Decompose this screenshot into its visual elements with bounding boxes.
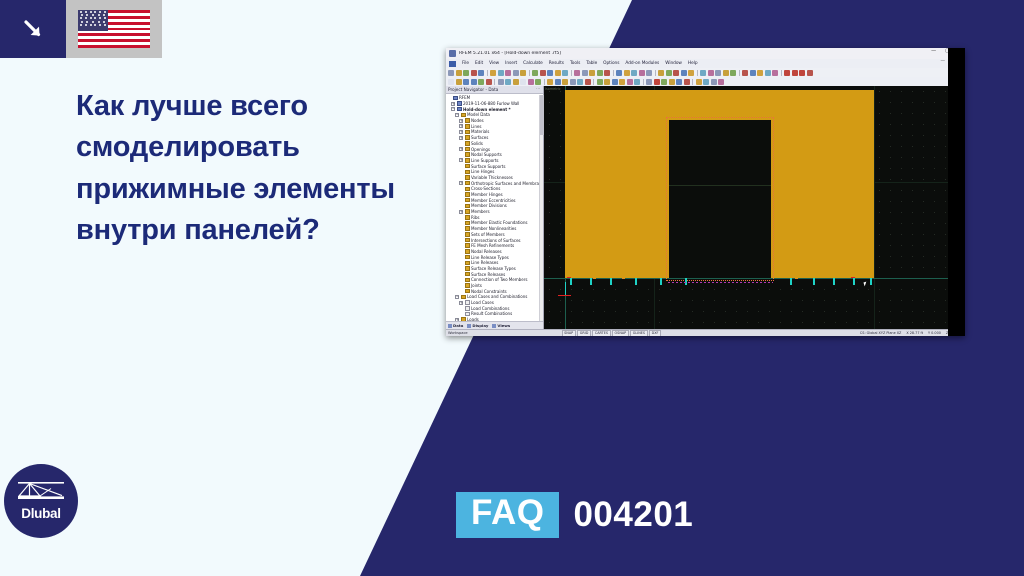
menu-item-help[interactable]: Help [688, 61, 698, 66]
toolbar-button-icon[interactable] [627, 79, 633, 85]
tree-node-icon [465, 170, 470, 175]
menu-item-addon[interactable]: Add-on Modules [625, 61, 659, 66]
tree-item-label: Nodal Constraints [471, 289, 507, 294]
tab-display[interactable]: Display [467, 323, 488, 328]
tree-spacer [459, 312, 463, 316]
us-flag-icon [66, 0, 162, 58]
toolbar-button-icon[interactable] [604, 70, 610, 76]
toolbar-separator [697, 70, 698, 76]
toolbar-button-icon[interactable] [634, 79, 640, 85]
menu-item-insert[interactable]: Insert [505, 61, 517, 66]
navigator-scrollbar[interactable] [539, 95, 543, 321]
toolbar-separator [739, 70, 740, 76]
navigator-menu-icon[interactable]: ⋯ [536, 87, 541, 91]
toolbar-button-icon[interactable] [639, 70, 645, 76]
tree-item-label: Joints [471, 283, 482, 288]
toolbar-secondary[interactable] [446, 77, 965, 86]
expand-icon[interactable]: + [459, 124, 463, 128]
wall-opening[interactable] [669, 120, 771, 278]
menu-logo-icon [449, 61, 456, 67]
toolbar-button-icon[interactable] [574, 70, 580, 76]
tree-item-label: Member Nonlinearities [471, 226, 516, 231]
rfem-app-icon [449, 50, 456, 57]
tree-item-label: Connection of Two Members [471, 277, 527, 282]
tree-item-label: Surface Releases [471, 272, 505, 277]
support-symbol[interactable] [813, 278, 815, 285]
menu-item-edit[interactable]: Edit [475, 61, 483, 66]
tree-spacer [459, 261, 463, 265]
statusbar-toggle[interactable]: SNAP [562, 330, 576, 337]
toolbar-button-icon[interactable] [498, 70, 504, 76]
tree-node-icon [465, 278, 470, 283]
toolbar-button-icon[interactable] [520, 70, 526, 76]
toolbar-button-icon[interactable] [532, 70, 538, 76]
toolbar-button-icon[interactable] [498, 79, 504, 85]
toolbar-button-icon[interactable] [784, 70, 790, 76]
toolbar-button-icon[interactable] [616, 70, 622, 76]
tree-item-label: 2019-11-06-880 Furlow Wall [463, 101, 519, 106]
display-icon [467, 324, 471, 328]
tree-node-icon [465, 198, 470, 203]
menu-item-window[interactable]: Window [665, 61, 682, 66]
support-symbol[interactable] [610, 278, 612, 285]
support-symbol[interactable] [635, 278, 637, 285]
grid-line-vertical [874, 86, 875, 329]
toolbar-button-icon[interactable] [505, 79, 511, 85]
menu-item-table[interactable]: Table [586, 61, 597, 66]
tree-spacer [459, 164, 463, 168]
tree-item-label: Member Eccentricities [471, 198, 516, 203]
toolbar-button-icon[interactable] [463, 70, 469, 76]
tree-node-icon [461, 113, 466, 118]
toolbar-button-icon[interactable] [535, 79, 541, 85]
toolbar-button-icon[interactable] [723, 70, 729, 76]
statusbar-toggle[interactable]: CARTES [592, 330, 610, 337]
tree-spacer [459, 175, 463, 179]
support-symbol[interactable] [790, 278, 792, 285]
tree-item-label: Hold-down element * [463, 107, 511, 112]
tree-node-icon [465, 232, 470, 237]
statusbar-field: CS: Global XYZ Plane XZ [860, 331, 901, 335]
statusbar-toggle[interactable]: DXF [649, 330, 661, 337]
hold-down-element-line[interactable] [668, 282, 773, 283]
language-badge [0, 0, 162, 58]
toolbar-button-icon[interactable] [520, 79, 526, 85]
toolbar-separator [655, 70, 656, 76]
expand-icon[interactable]: + [459, 147, 463, 151]
toolbar-button-icon[interactable] [582, 70, 588, 76]
tree-node-icon [457, 107, 462, 112]
minimize-icon[interactable]: — [931, 49, 936, 54]
toolbar-button-icon[interactable] [772, 70, 778, 76]
tree-item-label: Load Combinations [471, 306, 509, 311]
expand-icon[interactable]: + [459, 181, 463, 185]
statusbar-field: Y 0.000 [928, 331, 941, 335]
views-icon [492, 324, 496, 328]
tree-item-label: Members [471, 209, 490, 214]
tree-item-label: Sets of Members [471, 232, 505, 237]
tree-node-icon [465, 187, 470, 192]
tree-node-icon [465, 124, 470, 129]
tree-node-icon [461, 295, 466, 300]
tree-node-icon [465, 192, 470, 197]
z-axis-icon [565, 282, 566, 295]
expand-icon[interactable]: + [459, 210, 463, 214]
tree-spacer [459, 266, 463, 270]
tree-spacer [459, 193, 463, 197]
tab-data[interactable]: Data [448, 323, 463, 328]
toolbar-button-icon[interactable] [589, 70, 595, 76]
tree-node-icon [465, 300, 470, 305]
toolbar-button-icon[interactable] [478, 79, 484, 85]
support-marker[interactable] [593, 278, 596, 279]
opening-split-line [669, 185, 771, 186]
toolbar-button-icon[interactable] [673, 70, 679, 76]
toolbar-button-icon[interactable] [765, 70, 771, 76]
toolbar-button-icon[interactable] [463, 79, 469, 85]
toolbar-separator [494, 79, 495, 85]
tree-node-icon [465, 204, 470, 209]
tree-spacer [459, 244, 463, 248]
toolbar-button-icon[interactable] [684, 79, 690, 85]
data-icon [448, 324, 452, 328]
tree-node-icon [465, 175, 470, 180]
toolbar-button-icon[interactable] [666, 70, 672, 76]
mdi-minimize-icon[interactable]: — [940, 60, 945, 65]
tree-item-label: Surfaces [471, 135, 488, 140]
toolbar-button-icon[interactable] [555, 70, 561, 76]
toolbar-separator [781, 70, 782, 76]
tree-item-label: Orthotropic Surfaces and Membranes [471, 181, 543, 186]
tree-spacer [447, 96, 451, 100]
app-titlebar: RFEM 5.21.01 x64 - [Hold-down element .r… [446, 48, 965, 59]
tree-node-icon [465, 141, 470, 146]
expand-icon[interactable]: + [451, 102, 455, 106]
toolbar-button-icon[interactable] [676, 79, 682, 85]
tree-node-icon [465, 209, 470, 214]
toolbar-button-icon[interactable] [715, 70, 721, 76]
tree-spacer [459, 227, 463, 231]
statusbar-toggle[interactable]: GRID [577, 330, 591, 337]
toolbar-separator [571, 70, 572, 76]
nodal-support-marker[interactable] [851, 277, 855, 278]
toolbar-button-icon[interactable] [570, 79, 576, 85]
toolbar-button-icon[interactable] [703, 79, 709, 85]
tree-item-label: Model Data [467, 112, 490, 117]
tree-item-label: Variable Thicknesses [471, 175, 513, 180]
toolbar-button-icon[interactable] [708, 70, 714, 76]
tree-node-icon [465, 226, 470, 231]
toolbar-separator [613, 70, 614, 76]
tree-item-label: Nodal Releases [471, 249, 502, 254]
tree-item-label: Intersections of Surfaces [471, 238, 521, 243]
tree-node-icon [465, 135, 470, 140]
toolbar-button-icon[interactable] [654, 79, 660, 85]
faq-footer: FAQ 004201 [456, 492, 693, 538]
statusbar-left-text: Workspace [448, 331, 468, 335]
toolbar-button-icon[interactable] [700, 70, 706, 76]
toolbar-button-icon[interactable] [646, 79, 652, 85]
toolbar-button-icon[interactable] [540, 70, 546, 76]
tree-node-icon [465, 266, 470, 271]
toolbar-button-icon[interactable] [742, 70, 748, 76]
tree-item-label: Line Releases [471, 260, 498, 265]
tree-spacer [459, 141, 463, 145]
toolbar-button-icon[interactable] [597, 79, 603, 85]
toolbar-button-icon[interactable] [490, 70, 496, 76]
statusbar-toggles[interactable]: SNAPGRIDCARTESOSNAPGLINESDXF [562, 330, 661, 337]
tree-node-icon [465, 147, 470, 152]
toolbar-button-icon[interactable] [612, 79, 618, 85]
toolbar-separator [593, 79, 594, 85]
statusbar-field: X 28.77 ft [906, 331, 923, 335]
tree-node-icon [465, 221, 470, 226]
toolbar-button-icon[interactable] [547, 79, 553, 85]
expand-icon[interactable]: + [459, 136, 463, 140]
tree-node-icon [465, 158, 470, 163]
tree-node-icon [465, 283, 470, 288]
menu-item-view[interactable]: View [489, 61, 499, 66]
screenshot-right-margin [948, 48, 965, 336]
toolbar-button-icon[interactable] [730, 70, 736, 76]
tree-spacer [459, 170, 463, 174]
support-symbol[interactable] [870, 278, 872, 285]
faq-badge: FAQ [456, 492, 559, 538]
toolbar-button-icon[interactable] [711, 79, 717, 85]
tree-item-label: Member Hinges [471, 192, 503, 197]
toolbar-button-icon[interactable] [471, 70, 477, 76]
toolbar-button-icon[interactable] [646, 70, 652, 76]
toolbar-separator [643, 79, 644, 85]
coordinate-origin-axes [556, 282, 576, 302]
toolbar-button-icon[interactable] [471, 79, 477, 85]
tree-node-icon [465, 306, 470, 311]
tree-node-icon [465, 289, 470, 294]
support-symbol[interactable] [660, 278, 662, 285]
toolbar-button-icon[interactable] [478, 70, 484, 76]
tree-node-icon [465, 152, 470, 157]
toolbar-button-icon[interactable] [456, 70, 462, 76]
tree-item-label: Line Hinges [471, 169, 494, 174]
support-symbol[interactable] [853, 278, 855, 285]
toolbar-button-icon[interactable] [681, 70, 687, 76]
tree-spacer [459, 278, 463, 282]
rfem-application-screenshot: RFEM 5.21.01 x64 - [Hold-down element .r… [446, 48, 965, 336]
tree-spacer [459, 232, 463, 236]
tree-spacer [459, 198, 463, 202]
support-symbol[interactable] [590, 278, 592, 285]
expand-icon[interactable]: + [459, 301, 463, 305]
tree-spacer [459, 204, 463, 208]
support-marker[interactable] [795, 278, 798, 279]
tree-item-label: Result Combinations [471, 311, 512, 316]
tree-spacer [459, 255, 463, 259]
toolbar-button-icon[interactable] [718, 79, 724, 85]
dlubal-logo: Dlubal [4, 464, 78, 538]
app-chrome: RFEM 5.21.01 x64 - [Hold-down element .r… [446, 48, 965, 86]
toolbar-primary[interactable] [446, 68, 965, 77]
toolbar-button-icon[interactable] [513, 70, 519, 76]
menu-item-options[interactable]: Options [603, 61, 619, 66]
app-menubar[interactable]: File Edit View Insert Calculate Results … [446, 59, 965, 68]
nodal-support-marker[interactable] [567, 277, 571, 278]
toolbar-button-icon[interactable] [456, 79, 462, 85]
toolbar-button-icon[interactable] [750, 70, 756, 76]
tree-item-label: Ribs [471, 215, 480, 220]
tree-item-label: RFEM [459, 95, 470, 100]
tree-spacer [459, 215, 463, 219]
toolbar-button-icon[interactable] [448, 79, 454, 85]
tree-spacer [459, 284, 463, 288]
tree-item-label: Member Divisions [471, 203, 507, 208]
toolbar-button-icon[interactable] [688, 70, 694, 76]
toolbar-button-icon[interactable] [696, 79, 702, 85]
tree-node-icon [465, 215, 470, 220]
tree-node-icon [465, 312, 470, 317]
toolbar-button-icon[interactable] [585, 79, 591, 85]
toolbar-button-icon[interactable] [577, 79, 583, 85]
arrow-down-right-icon [0, 0, 66, 58]
toolbar-button-icon[interactable] [547, 70, 553, 76]
toolbar-button-icon[interactable] [807, 70, 813, 76]
toolbar-button-icon[interactable] [555, 79, 561, 85]
toolbar-button-icon[interactable] [619, 79, 625, 85]
tree-spacer [459, 238, 463, 242]
dlubal-truss-icon [18, 482, 64, 504]
tree-spacer [459, 249, 463, 253]
toolbar-button-icon[interactable] [669, 79, 675, 85]
tree-item-label: FE Mesh Refinements [471, 243, 514, 248]
tree-item-label: Load Cases and Combinations [467, 294, 527, 299]
statusbar-toggle[interactable]: OSNAP [612, 330, 629, 337]
tree-item-label: Openings [471, 147, 490, 152]
tree-node-icon [465, 118, 470, 123]
view-label: Isometric [545, 87, 561, 91]
menu-item-tools[interactable]: Tools [570, 61, 580, 66]
tree-spacer [459, 153, 463, 157]
tree-node-icon [465, 130, 470, 135]
x-axis-icon [558, 295, 571, 296]
tree-item-label: Lines [471, 124, 481, 129]
tree-node-icon [465, 255, 470, 260]
tree-node-icon [465, 164, 470, 169]
tree-item-label: Surface Release Types [471, 266, 516, 271]
model-viewport[interactable]: Isometric [544, 86, 965, 329]
tree-spacer [459, 306, 463, 310]
toolbar-separator [544, 79, 545, 85]
tree-spacer [459, 272, 463, 276]
toolbar-separator [529, 70, 530, 76]
tree-node-icon [465, 272, 470, 277]
tree-item[interactable]: +Orthotropic Surfaces and Membranes [447, 180, 543, 186]
tree-item-label: Surface Supports [471, 164, 505, 169]
toolbar-button-icon[interactable] [757, 70, 763, 76]
collapse-icon[interactable]: − [451, 107, 455, 111]
toolbar-button-icon[interactable] [486, 79, 492, 85]
toolbar-button-icon[interactable] [528, 79, 534, 85]
tree-item-label: Solids [471, 141, 483, 146]
app-statusbar: Workspace SNAPGRIDCARTESOSNAPGLINESDXF C… [446, 329, 965, 336]
toolbar-button-icon[interactable] [799, 70, 805, 76]
toolbar-button-icon[interactable] [513, 79, 519, 85]
tree-item-label: Cross-Sections [471, 186, 500, 191]
page-title: Как лучше всего смоделировать прижимные … [76, 86, 406, 252]
tree-spacer [459, 289, 463, 293]
menu-item-results[interactable]: Results [549, 61, 564, 66]
toolbar-button-icon[interactable] [604, 79, 610, 85]
collapse-icon[interactable]: − [455, 295, 459, 299]
support-marker[interactable] [622, 278, 625, 279]
project-navigator-panel[interactable]: Project Navigator - Data ⋯ RFEM+2019-11-… [446, 86, 544, 329]
navigator-tabs[interactable]: Data Display Views [446, 321, 543, 329]
tree-spacer [459, 187, 463, 191]
tree-node-icon [465, 261, 470, 266]
toolbar-button-icon[interactable] [661, 79, 667, 85]
toolbar-button-icon[interactable] [597, 70, 603, 76]
tree-node-icon [465, 249, 470, 254]
slide-canvas: Как лучше всего смоделировать прижимные … [0, 0, 1024, 576]
tree-item-label: Line Supports [471, 158, 499, 163]
tab-views[interactable]: Views [492, 323, 510, 328]
collapse-icon[interactable]: − [455, 113, 459, 117]
expand-icon[interactable]: + [459, 130, 463, 134]
toolbar-button-icon[interactable] [562, 70, 568, 76]
toolbar-button-icon[interactable] [624, 70, 630, 76]
toolbar-button-icon[interactable] [792, 70, 798, 76]
app-title: RFEM 5.21.01 x64 - [Hold-down element .r… [459, 51, 561, 56]
faq-number: 004201 [573, 497, 693, 534]
tree-node-icon [453, 96, 458, 101]
toolbar-separator [487, 70, 488, 76]
tree-item-label: Load Cases [471, 300, 494, 305]
toolbar-button-icon[interactable] [562, 79, 568, 85]
toolbar-separator [692, 79, 693, 85]
menu-item-calculate[interactable]: Calculate [523, 61, 543, 66]
tree-item-label: Member Elastic Foundations [471, 220, 527, 225]
toolbar-button-icon[interactable] [448, 70, 454, 76]
toolbar-button-icon[interactable] [631, 70, 637, 76]
dlubal-wordmark: Dlubal [21, 507, 60, 521]
tree-node-icon [465, 243, 470, 248]
tree-spacer [459, 221, 463, 225]
expand-icon[interactable]: + [459, 119, 463, 123]
expand-icon[interactable]: + [459, 158, 463, 162]
menu-item-file[interactable]: File [462, 61, 469, 66]
tree-item-label: Line Release Types [471, 255, 509, 260]
navigator-header: Project Navigator - Data ⋯ [446, 86, 543, 94]
navigator-title: Project Navigator - Data [448, 87, 498, 92]
tree-item-label: Nodal Supports [471, 152, 502, 157]
support-symbol[interactable] [833, 278, 835, 285]
toolbar-button-icon[interactable] [505, 70, 511, 76]
tree-node-icon [465, 238, 470, 243]
navigator-tree[interactable]: RFEM+2019-11-06-880 Furlow Wall−Hold-dow… [446, 94, 543, 321]
tree-item-label: Materials [471, 129, 489, 134]
statusbar-toggle[interactable]: GLINES [630, 330, 647, 337]
tree-node-icon [457, 101, 462, 106]
toolbar-button-icon[interactable] [658, 70, 664, 76]
tree-item-label: Nodes [471, 118, 484, 123]
tree-node-icon [465, 181, 470, 186]
